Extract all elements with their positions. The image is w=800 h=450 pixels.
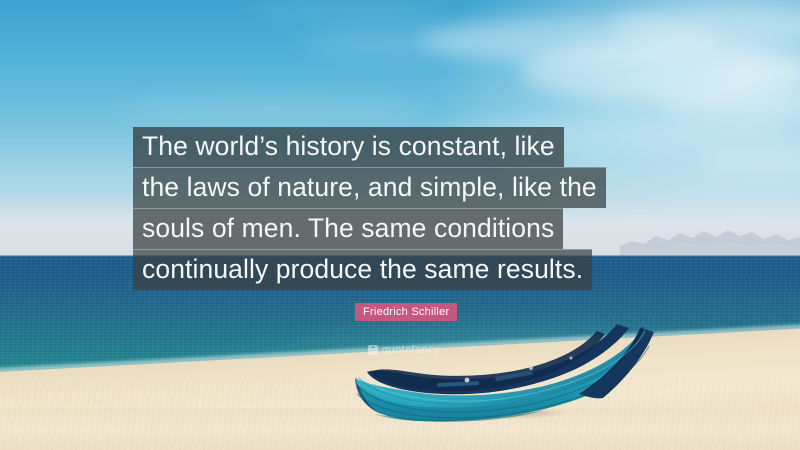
cloud-wisp [120, 98, 420, 120]
cloud-wisp [250, 0, 450, 18]
cloud-wisp [300, 30, 540, 56]
author-badge[interactable]: Friedrich Schiller [355, 303, 457, 321]
quotefancy-badge-icon: “ [368, 345, 378, 355]
quote-block: The world’s history is constant, like th… [133, 127, 673, 290]
quote-poster: The world’s history is constant, like th… [0, 0, 800, 450]
quote-line: The world’s history is constant, like [133, 127, 564, 167]
quote-line: souls of men. The same conditions [133, 208, 563, 249]
quote-line: the laws of nature, and simple, like the [133, 167, 606, 208]
watermark-label: quotefancy [382, 344, 440, 356]
rowboat [345, 322, 655, 427]
quotefancy-watermark[interactable]: “ quotefancy [368, 344, 440, 356]
quote-line: continually produce the same results. [133, 249, 592, 290]
